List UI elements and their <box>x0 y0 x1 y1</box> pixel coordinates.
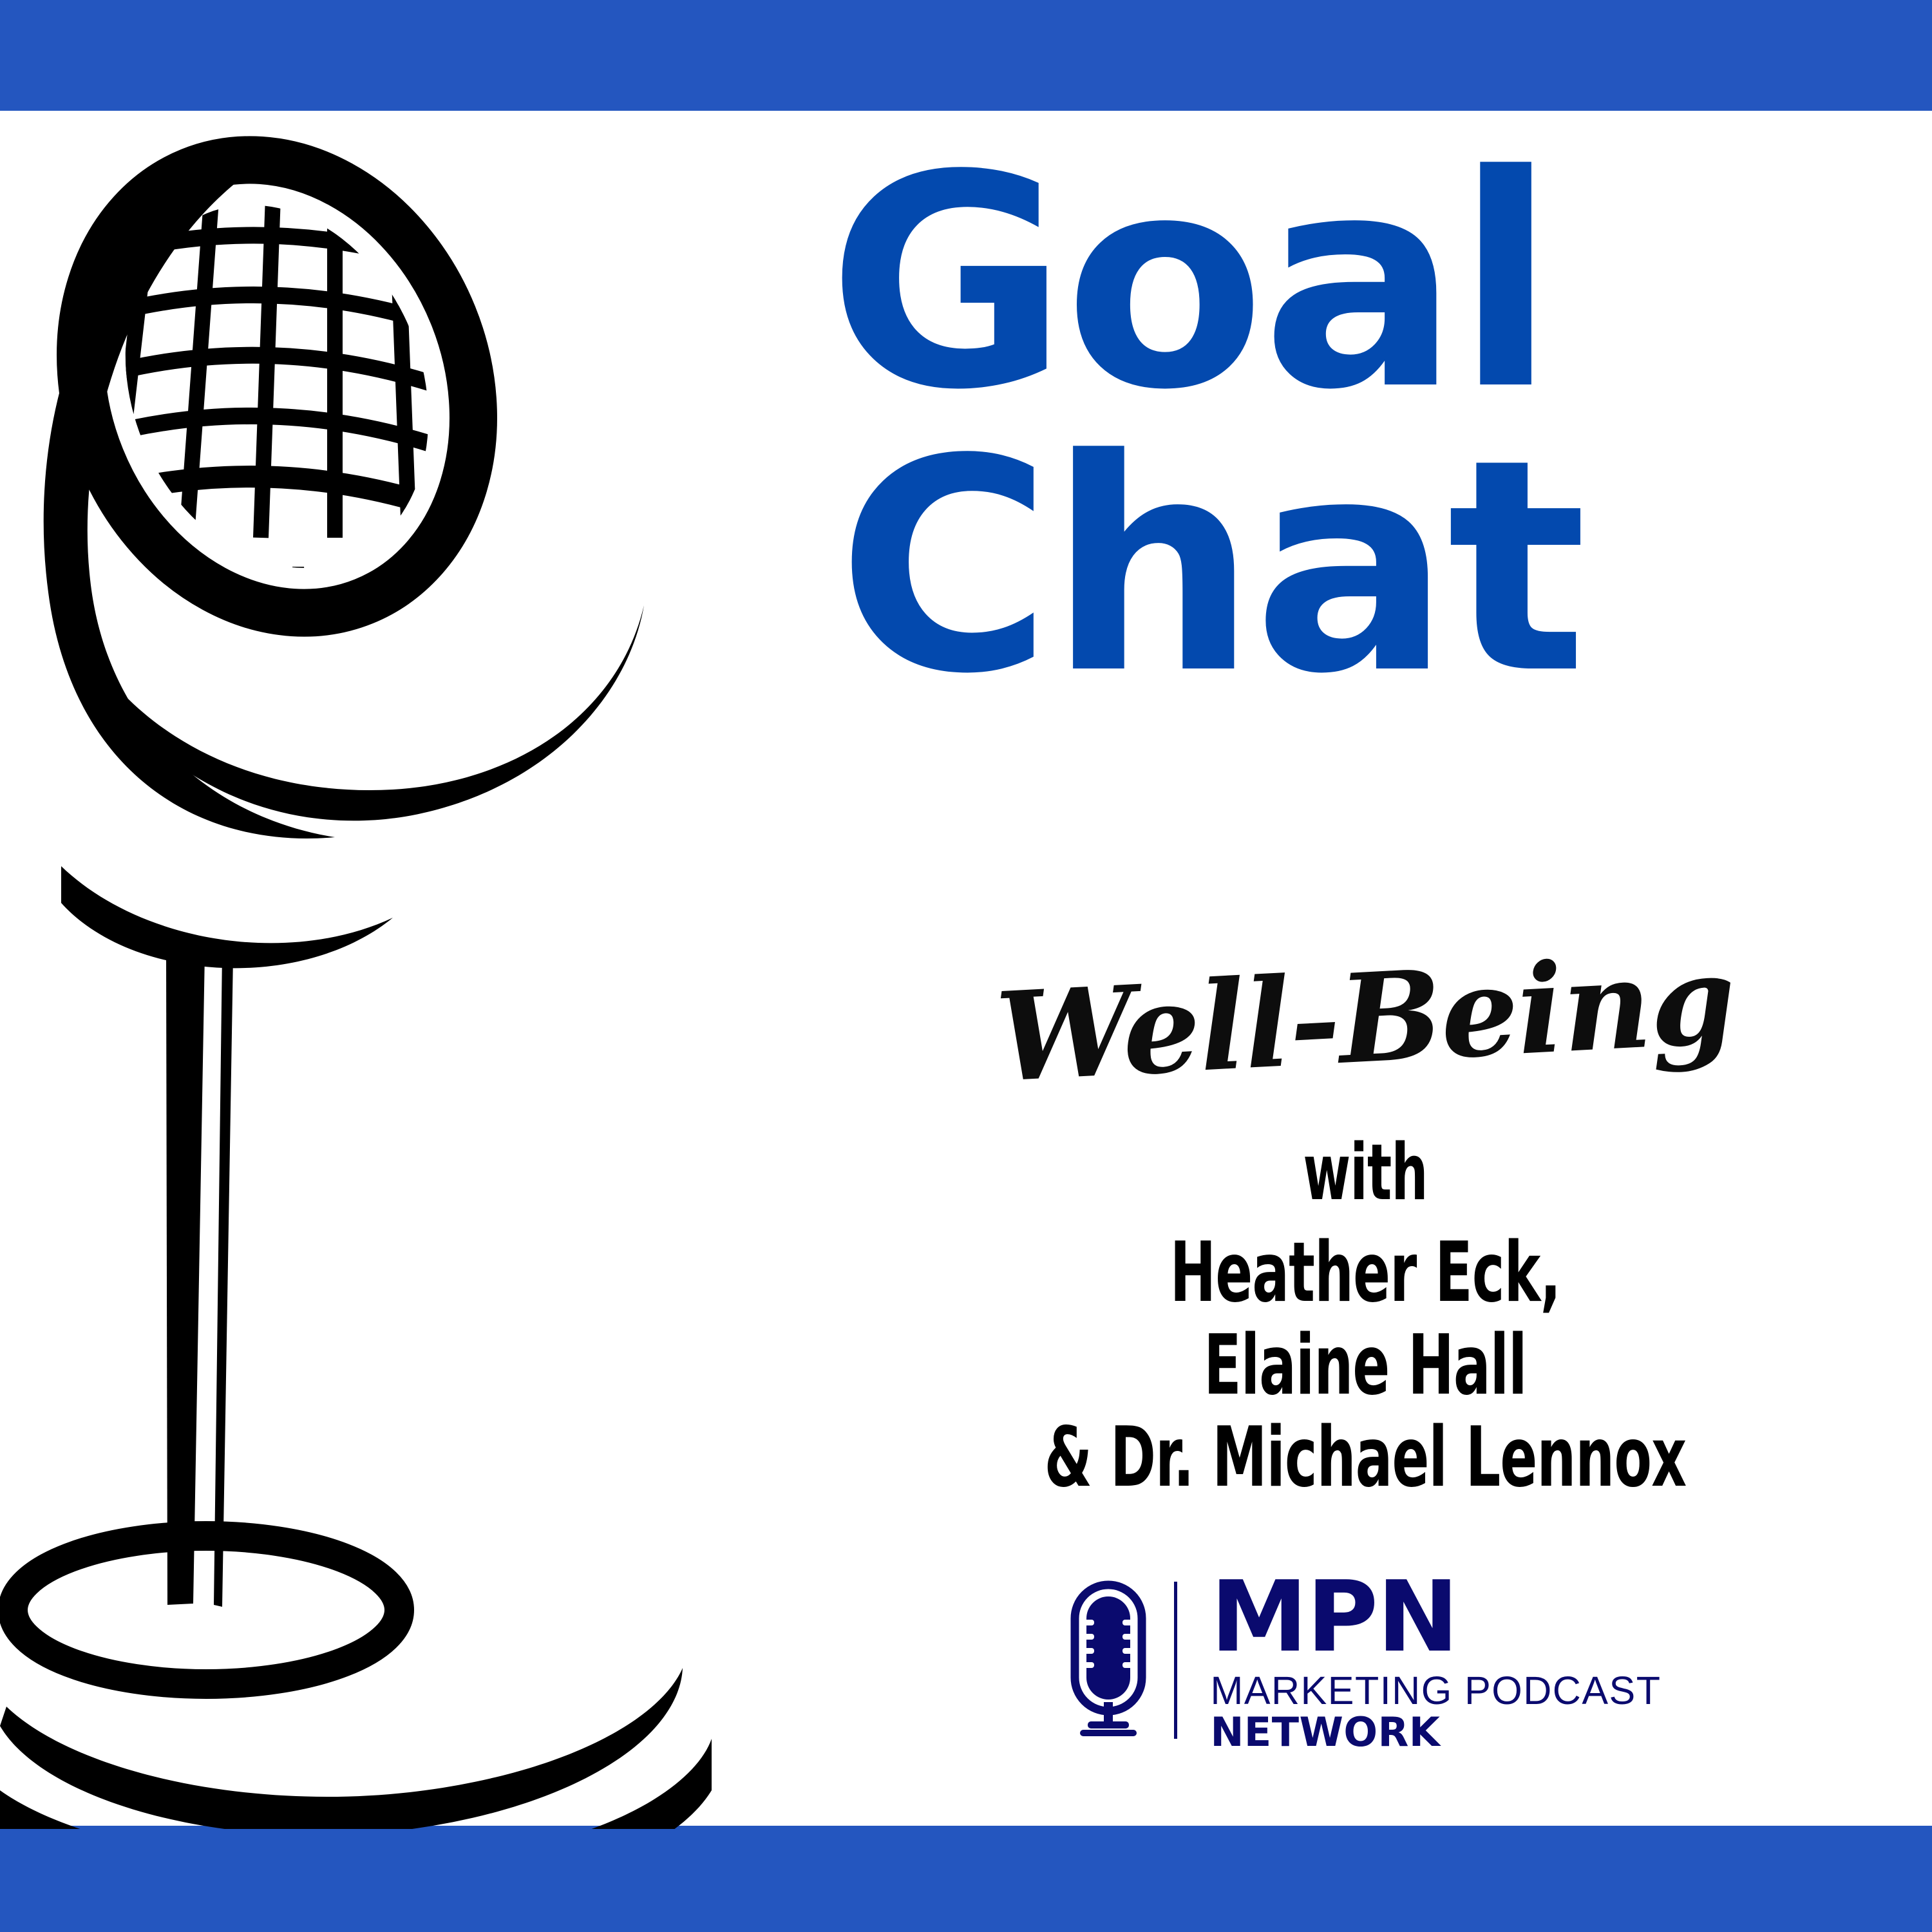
mic-collar <box>61 866 393 968</box>
network-logo-wordmark: MPN MARKETING PODCAST NETWORK <box>1211 1568 1662 1752</box>
top-border-band <box>0 0 1932 111</box>
text-column: Goal Chat Well-Being with Heather Eck, E… <box>799 116 1932 1826</box>
host-name: Elaine Hall <box>946 1320 1785 1412</box>
show-subtitle: Well-Being <box>795 917 1932 1120</box>
microphone-illustration <box>0 116 799 1829</box>
host-credits: with Heather Eck, Elaine Hall & Dr. Mich… <box>799 1130 1932 1504</box>
network-tagline-line1: MARKETING PODCAST <box>1211 1671 1662 1710</box>
hosts-preposition: with <box>946 1130 1785 1217</box>
network-abbreviation: MPN <box>1211 1568 1662 1666</box>
podcast-cover-art: Goal Chat Well-Being with Heather Eck, E… <box>0 0 1932 1932</box>
network-logo: MPN MARKETING PODCAST NETWORK <box>799 1568 1932 1752</box>
host-name: & Dr. Michael Lennox <box>946 1412 1785 1504</box>
bottom-border-band <box>0 1826 1932 1932</box>
podcast-microphone-icon <box>1070 1580 1147 1741</box>
title-line-goal: Goal <box>799 142 1932 426</box>
title-line-chat: Chat <box>799 426 1932 710</box>
mic-stand-base <box>0 1536 712 1829</box>
mic-stand-post <box>166 953 233 1607</box>
logo-divider <box>1174 1582 1177 1739</box>
network-tagline-line2: NETWORK <box>1211 1712 1662 1752</box>
host-name: Heather Eck, <box>946 1227 1785 1319</box>
show-title: Goal Chat <box>799 142 1932 710</box>
mic-head-group <box>14 116 644 838</box>
